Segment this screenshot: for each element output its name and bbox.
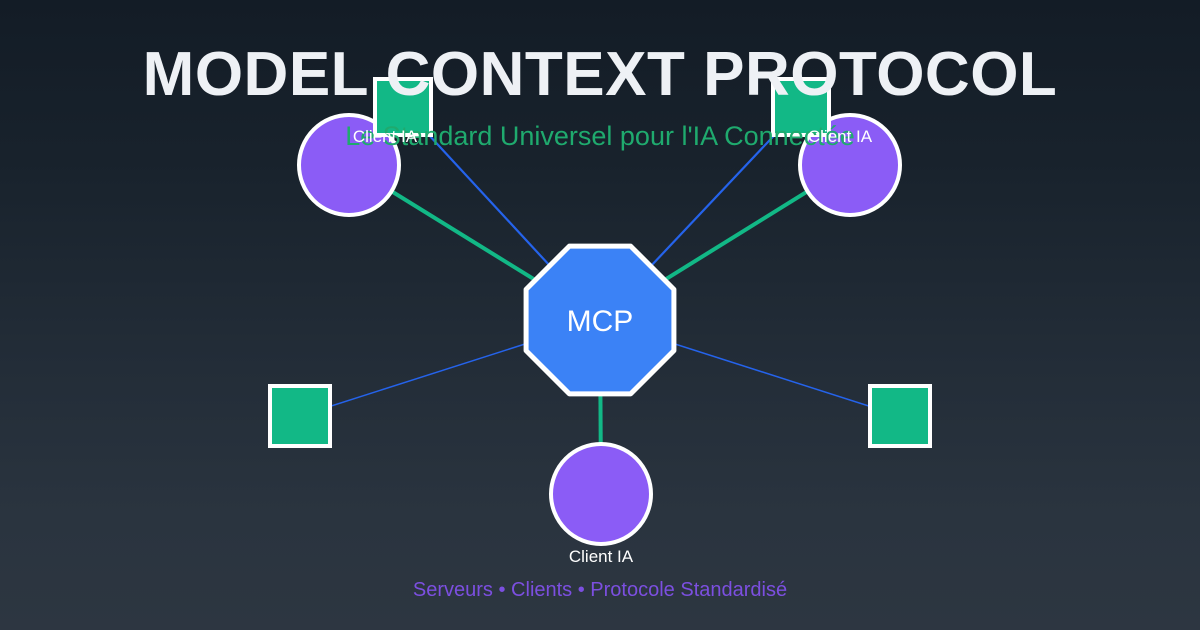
server-bottom-left[interactable] [270, 386, 330, 446]
poster-canvas: MODEL CONTEXT PROTOCOL Le Standard Unive… [0, 0, 1200, 630]
client-bottom[interactable] [551, 444, 651, 544]
server-top-left[interactable] [375, 79, 431, 135]
node-layer [270, 79, 930, 544]
server-bottom-right[interactable] [870, 386, 930, 446]
network-diagram [0, 0, 1200, 630]
server-top-right[interactable] [773, 79, 829, 135]
mcp-hub[interactable] [526, 246, 674, 394]
